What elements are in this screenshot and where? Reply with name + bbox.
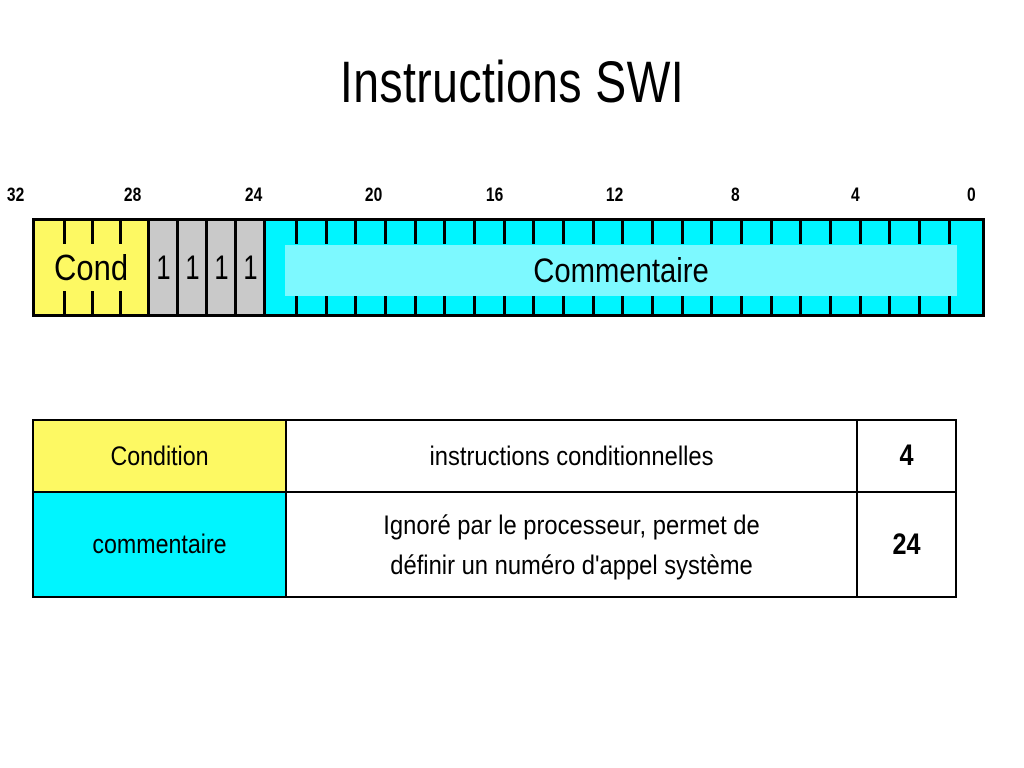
bit-tick xyxy=(295,221,298,244)
bit-tick xyxy=(681,221,684,244)
instruction-format-bar: Cond 1 1 1 1 xyxy=(32,218,985,317)
bitfield-cond-label: Cond xyxy=(54,248,128,288)
bit-tick xyxy=(63,221,66,244)
bit-tick xyxy=(888,221,891,244)
bit-label-4: 4 xyxy=(851,185,860,207)
table-row: commentaire Ignoré par le processeur, pe… xyxy=(33,492,956,597)
bit-tick xyxy=(740,221,743,244)
legend-bits-commentaire: 24 xyxy=(857,492,956,597)
bit-tick xyxy=(354,221,357,244)
bit-label-28: 28 xyxy=(124,185,141,207)
bit-tick xyxy=(91,291,94,314)
bitfield-ones-cell: 1 xyxy=(237,221,263,314)
legend-name-commentaire: commentaire xyxy=(33,492,286,597)
bit-tick xyxy=(473,221,476,244)
bitfield-commentaire-label: Commentaire xyxy=(533,252,709,290)
bit-tick xyxy=(829,221,832,244)
legend-name-cond: Condition xyxy=(33,420,286,492)
bit-tick xyxy=(119,221,122,244)
bit-tick xyxy=(621,221,624,244)
legend-table: Condition instructions conditionnelles 4… xyxy=(32,419,957,598)
bit-label-0: 0 xyxy=(967,185,976,207)
bit-tick xyxy=(799,221,802,244)
bit-tick xyxy=(384,221,387,244)
bitfield-ones: 1 1 1 1 xyxy=(150,221,266,314)
bit-tick xyxy=(119,291,122,314)
bitfield-ones-cell: 1 xyxy=(179,221,208,314)
bit-ruler: 32 28 24 20 16 12 8 4 0 xyxy=(0,185,1024,211)
bitfield-ones-cell: 1 xyxy=(208,221,237,314)
bit-tick xyxy=(91,221,94,244)
bit-label-16: 16 xyxy=(486,185,503,207)
legend-desc-cond: instructions conditionnelles xyxy=(286,420,857,492)
bit-tick xyxy=(63,291,66,314)
bitfield-ones-value: 1 xyxy=(156,251,170,285)
bit-label-8: 8 xyxy=(731,185,740,207)
legend-desc-commentaire: Ignoré par le processeur, permet de défi… xyxy=(286,492,857,597)
bit-tick xyxy=(918,221,921,244)
bit-label-20: 20 xyxy=(365,185,382,207)
page-title: Instructions SWI xyxy=(102,52,921,114)
bit-tick xyxy=(651,221,654,244)
bitfield-ones-cell: 1 xyxy=(150,221,179,314)
bit-tick xyxy=(414,221,417,244)
bitfield-commentaire-band: Commentaire xyxy=(285,245,957,296)
bit-tick xyxy=(325,221,328,244)
bit-tick xyxy=(710,221,713,244)
bit-label-24: 24 xyxy=(245,185,262,207)
bit-tick xyxy=(443,221,446,244)
bit-label-32: 32 xyxy=(7,185,24,207)
bit-tick xyxy=(503,221,506,244)
table-row: Condition instructions conditionnelles 4 xyxy=(33,420,956,492)
bit-tick xyxy=(562,221,565,244)
legend-bits-cond: 4 xyxy=(857,420,956,492)
bit-tick xyxy=(859,221,862,244)
bit-tick xyxy=(592,221,595,244)
bit-label-12: 12 xyxy=(606,185,623,207)
bitfield-commentaire: Commentaire xyxy=(266,221,982,314)
bitfield-ones-value: 1 xyxy=(185,251,199,285)
bitfield-ones-value: 1 xyxy=(243,251,257,285)
bit-tick xyxy=(770,221,773,244)
bit-tick xyxy=(948,221,951,244)
bitfield-cond: Cond xyxy=(35,221,150,314)
bitfield-ones-value: 1 xyxy=(214,251,228,285)
bit-tick xyxy=(532,221,535,244)
